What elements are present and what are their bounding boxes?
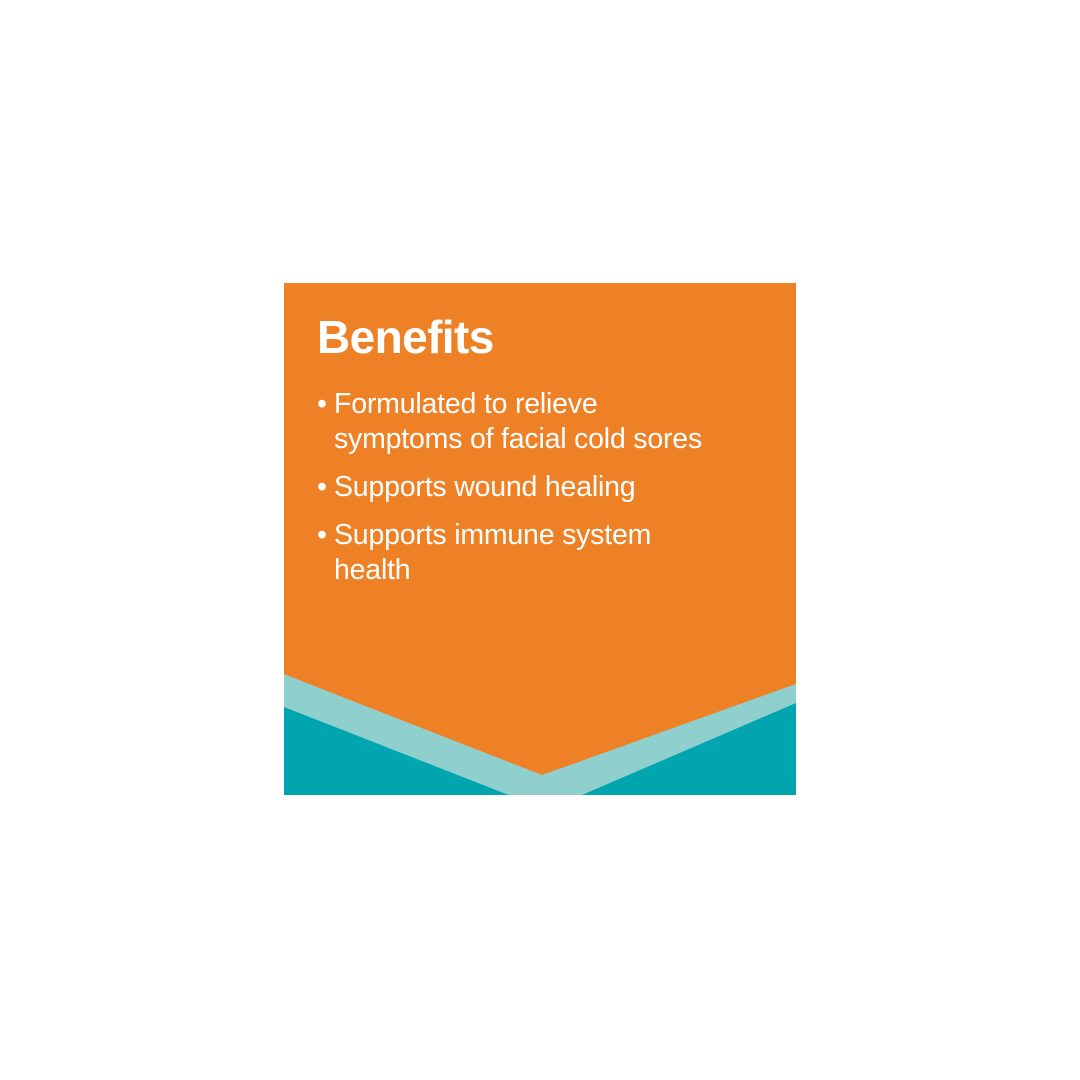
benefit-text: Supports immune system health	[334, 519, 651, 586]
benefit-text: Formulated to relieve symptoms of facial…	[334, 388, 702, 455]
benefits-product-card: Benefits • Formulated to relieve symptom…	[284, 283, 796, 795]
page-title: Benefits	[317, 313, 717, 361]
bullet-icon: •	[317, 518, 327, 553]
benefits-content: Benefits • Formulated to relieve symptom…	[317, 313, 717, 602]
benefit-text: Supports wound healing	[334, 471, 635, 503]
bullet-icon: •	[317, 387, 327, 422]
list-item: • Formulated to relieve symptoms of faci…	[317, 387, 717, 457]
benefits-list: • Formulated to relieve symptoms of faci…	[317, 387, 717, 588]
bullet-icon: •	[317, 470, 327, 505]
canvas: Benefits • Formulated to relieve symptom…	[0, 0, 1080, 1080]
list-item: • Supports wound healing	[317, 470, 717, 505]
list-item: • Supports immune system health	[317, 518, 717, 588]
